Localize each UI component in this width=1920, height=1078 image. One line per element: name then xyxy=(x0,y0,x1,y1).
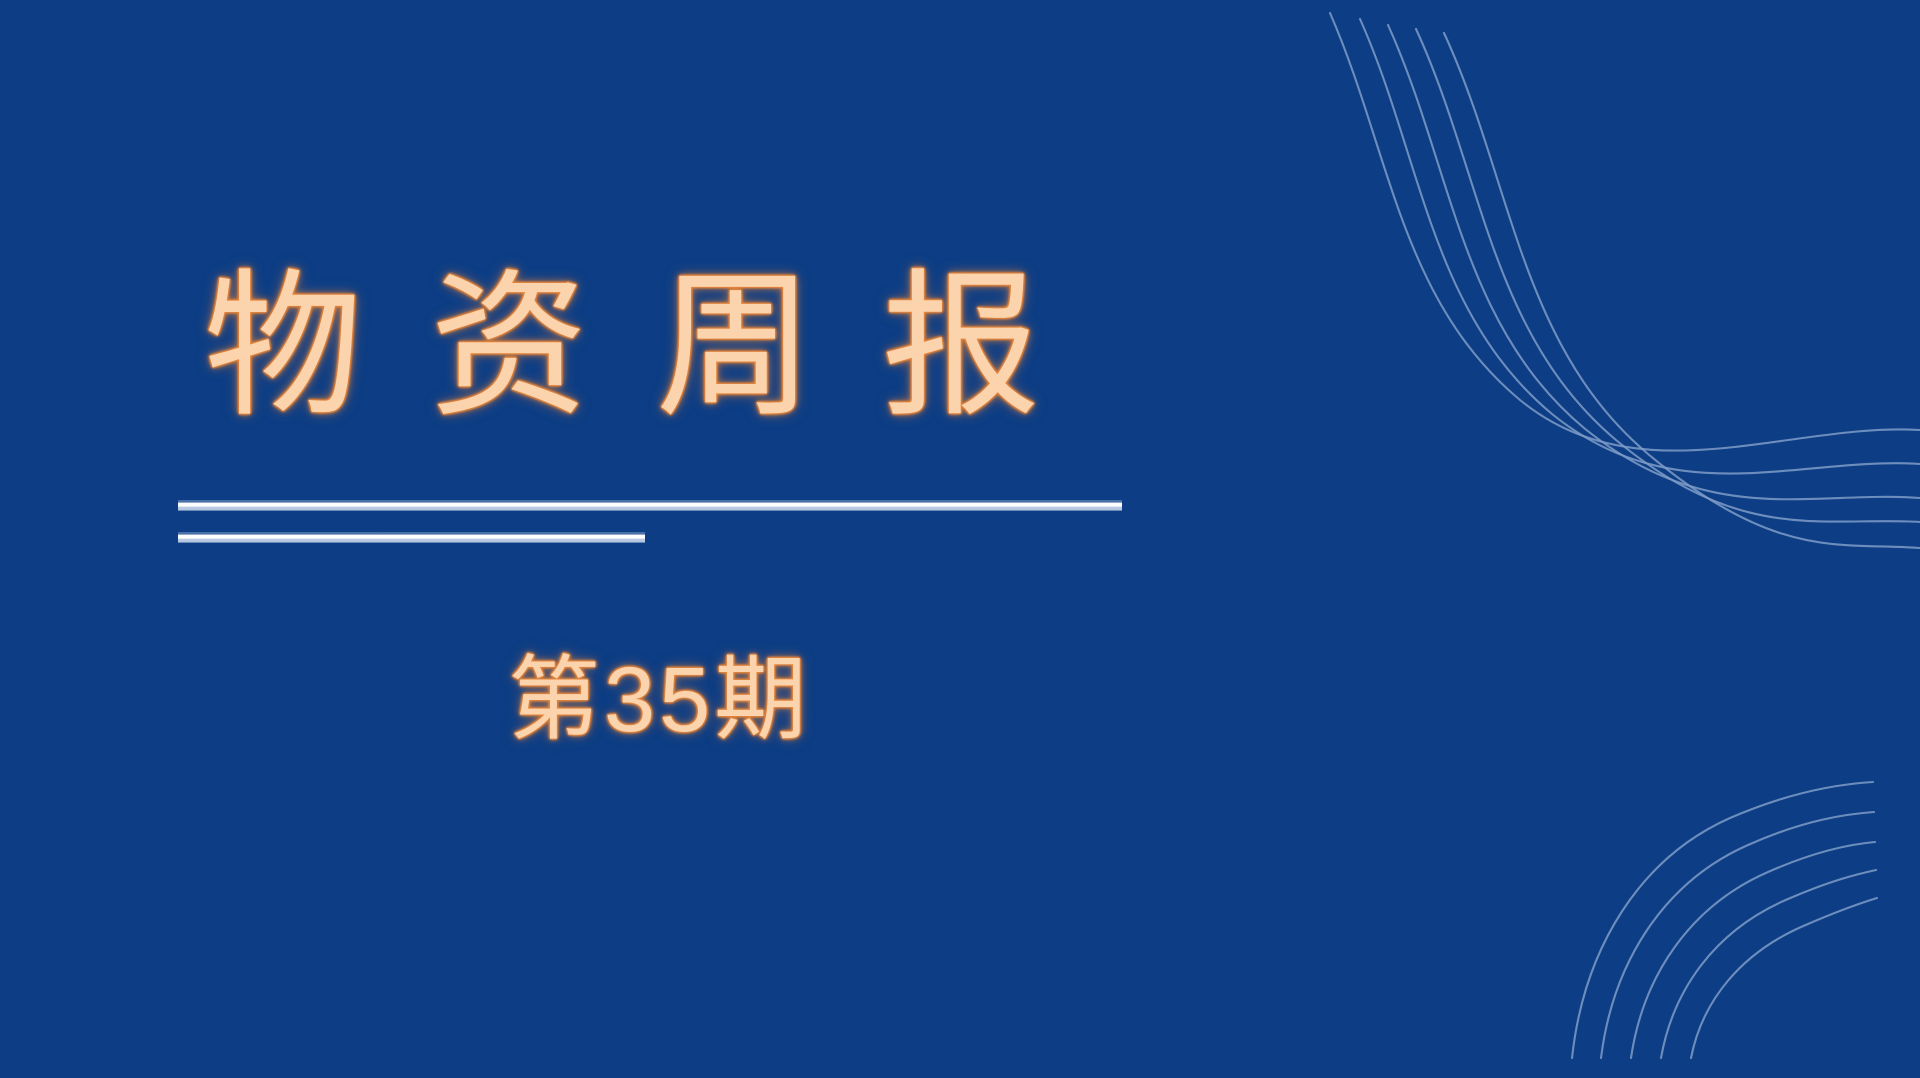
issue-subtitle: 第35期 xyxy=(508,648,810,754)
arc-curve-1 xyxy=(1572,782,1873,1058)
wave-curve-1 xyxy=(1330,13,1920,451)
arc-curve-group-bottom-right xyxy=(1572,782,1877,1058)
page-title: 物资周报 xyxy=(204,268,1178,426)
title-underline-long xyxy=(178,500,1122,511)
title-underline-short xyxy=(178,532,645,543)
arc-curve-2 xyxy=(1601,812,1874,1058)
wave-curve-2 xyxy=(1360,19,1920,474)
wave-curve-5 xyxy=(1444,33,1920,548)
arc-curve-5 xyxy=(1691,898,1877,1058)
slide-canvas: 物资周报 第35期 xyxy=(0,0,1920,1078)
wave-curve-4 xyxy=(1416,29,1920,522)
arc-curve-3 xyxy=(1631,842,1875,1058)
title-block: 物资周报 xyxy=(178,268,1178,426)
wave-curve-3 xyxy=(1388,25,1920,499)
wave-curve-group-top-right xyxy=(1330,13,1920,548)
arc-curve-4 xyxy=(1661,870,1876,1058)
